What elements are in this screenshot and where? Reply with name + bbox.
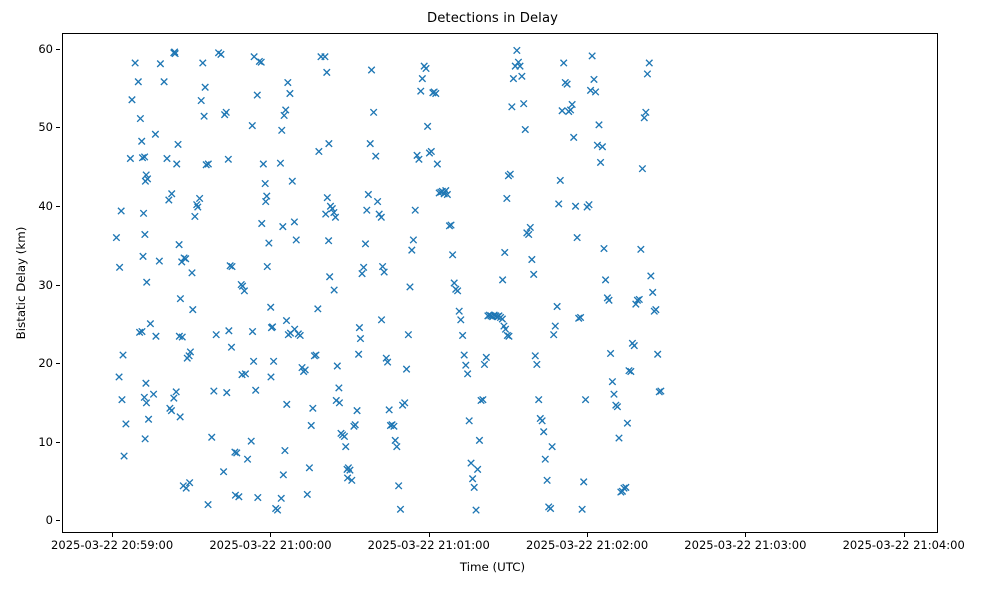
data-point (280, 472, 286, 478)
data-point (281, 112, 287, 118)
data-point (156, 258, 162, 264)
data-point (336, 400, 342, 406)
data-point (192, 213, 198, 219)
data-point (357, 335, 363, 341)
data-point (116, 264, 122, 270)
y-tick-mark (56, 127, 60, 128)
data-point (378, 214, 384, 220)
data-point (456, 308, 462, 314)
data-point (586, 201, 592, 207)
page-title: Detections in Delay (0, 11, 985, 26)
data-point (591, 76, 597, 82)
data-point (557, 177, 563, 183)
data-point (140, 253, 146, 259)
data-point (285, 79, 291, 85)
data-point (451, 280, 457, 286)
data-point (378, 317, 384, 323)
data-point (164, 155, 170, 161)
figure-canvas: Detections in Delay Bistatic Delay (km) … (0, 0, 985, 590)
data-point (403, 366, 409, 372)
data-point (401, 400, 407, 406)
x-tick-mark (270, 533, 271, 537)
data-point (449, 252, 455, 258)
data-point (580, 479, 586, 485)
data-point (166, 197, 172, 203)
data-point (175, 141, 181, 147)
x-tick-label: 2025-03-22 20:59:00 (51, 538, 173, 552)
data-point (356, 324, 362, 330)
data-point (507, 171, 513, 177)
data-point (334, 363, 340, 369)
data-point (409, 247, 415, 253)
data-point (224, 389, 230, 395)
data-point (152, 131, 158, 137)
data-point (200, 60, 206, 66)
data-point (129, 97, 135, 103)
data-point (325, 237, 331, 243)
data-point (324, 69, 330, 75)
data-point (639, 165, 645, 171)
data-point (374, 198, 380, 204)
data-point (250, 358, 256, 364)
data-point (602, 277, 608, 283)
data-point (549, 443, 555, 449)
data-point (599, 144, 605, 150)
data-point (560, 60, 566, 66)
data-point (579, 506, 585, 512)
data-point (359, 270, 365, 276)
data-point (308, 422, 314, 428)
data-point (173, 161, 179, 167)
data-point (569, 101, 575, 107)
data-point (525, 231, 531, 237)
scatter-layer (63, 34, 937, 532)
data-point (520, 100, 526, 106)
x-tick-label: 2025-03-22 21:00:00 (209, 538, 331, 552)
data-point (392, 437, 398, 443)
data-point (208, 434, 214, 440)
data-point (594, 142, 600, 148)
data-point (277, 160, 283, 166)
data-point (287, 90, 293, 96)
data-point (143, 279, 149, 285)
data-point (544, 477, 550, 483)
data-point (119, 396, 125, 402)
data-point (609, 378, 615, 384)
data-point (554, 303, 560, 309)
data-point (362, 241, 368, 247)
data-point (592, 89, 598, 95)
data-point (368, 67, 374, 73)
y-tick-mark (56, 520, 60, 521)
data-point (140, 210, 146, 216)
data-point (248, 438, 254, 444)
x-tick-mark (745, 533, 746, 537)
data-point (386, 407, 392, 413)
data-point (280, 223, 286, 229)
data-point (322, 211, 328, 217)
data-point (326, 273, 332, 279)
data-point (142, 436, 148, 442)
data-point (499, 277, 505, 283)
data-point (638, 246, 644, 252)
data-point (198, 97, 204, 103)
data-point (428, 148, 434, 154)
data-point (364, 207, 370, 213)
data-point (654, 351, 660, 357)
y-axis-tick-marks (0, 33, 62, 533)
data-point (147, 320, 153, 326)
data-point (282, 107, 288, 113)
data-point (289, 178, 295, 184)
data-point (564, 81, 570, 87)
data-point (137, 115, 143, 121)
data-point (260, 161, 266, 167)
data-point (483, 354, 489, 360)
data-point (264, 263, 270, 269)
data-point (157, 61, 163, 67)
x-tick-label: 2025-03-22 21:04:00 (843, 538, 965, 552)
data-point (252, 387, 258, 393)
x-tick-mark (587, 533, 588, 537)
data-point (459, 332, 465, 338)
data-point (552, 323, 558, 329)
data-point (336, 385, 342, 391)
data-point (331, 287, 337, 293)
data-point (211, 388, 217, 394)
data-point (550, 331, 556, 337)
x-tick-label: 2025-03-22 21:03:00 (684, 538, 806, 552)
data-point (570, 134, 576, 140)
data-point (322, 53, 328, 59)
data-point (173, 389, 179, 395)
data-point (171, 395, 177, 401)
data-point (324, 194, 330, 200)
data-point (641, 115, 647, 121)
data-point (572, 203, 578, 209)
data-point (201, 113, 207, 119)
data-point (514, 47, 520, 53)
data-point (648, 273, 654, 279)
data-point (161, 79, 167, 85)
y-tick-mark (56, 442, 60, 443)
plot-area (62, 33, 938, 533)
data-point (504, 195, 510, 201)
data-point (463, 362, 469, 368)
data-point (481, 361, 487, 367)
data-point (176, 241, 182, 247)
data-point (141, 394, 147, 400)
data-point (394, 443, 400, 449)
x-axis-tick-labels: 2025-03-22 20:59:002025-03-22 21:00:0020… (0, 538, 985, 556)
data-point (254, 92, 260, 98)
data-point (611, 391, 617, 397)
y-tick-mark (56, 49, 60, 50)
data-point (189, 270, 195, 276)
data-point (316, 148, 322, 154)
data-point (113, 234, 119, 240)
data-point (567, 107, 573, 113)
data-point (539, 418, 545, 424)
data-point (205, 501, 211, 507)
data-point (266, 240, 272, 246)
data-point (218, 51, 224, 57)
data-point (412, 207, 418, 213)
data-point-group (113, 47, 664, 513)
data-point (270, 358, 276, 364)
data-point (646, 60, 652, 66)
data-point (202, 84, 208, 90)
data-point (228, 344, 234, 350)
data-point (547, 505, 553, 511)
data-point (606, 297, 612, 303)
data-point (474, 466, 480, 472)
data-point (529, 256, 535, 262)
data-point (597, 159, 603, 165)
x-axis-label: Time (UTC) (0, 560, 985, 574)
data-point (519, 73, 525, 79)
data-point (360, 264, 366, 270)
data-point (283, 317, 289, 323)
data-point (264, 193, 270, 199)
data-point (132, 60, 138, 66)
x-tick-label: 2025-03-22 21:01:00 (368, 538, 490, 552)
data-point (469, 476, 475, 482)
data-point (150, 391, 156, 397)
data-point (466, 418, 472, 424)
data-point (278, 495, 284, 501)
data-point (255, 494, 261, 500)
data-point (167, 405, 173, 411)
data-point (120, 352, 126, 358)
data-point (177, 414, 183, 420)
data-point (153, 333, 159, 339)
data-point (589, 53, 595, 59)
y-tick-mark (56, 285, 60, 286)
data-point (555, 201, 561, 207)
data-point (221, 111, 227, 117)
x-tick-mark (904, 533, 905, 537)
data-point (291, 326, 297, 332)
data-point (574, 234, 580, 240)
x-tick-label: 2025-03-22 21:02:00 (526, 538, 648, 552)
data-point (190, 306, 196, 312)
x-tick-mark (429, 533, 430, 537)
data-point (473, 507, 479, 513)
data-point (193, 201, 199, 207)
data-point (424, 123, 430, 129)
data-point (395, 483, 401, 489)
y-tick-mark (56, 363, 60, 364)
data-point (284, 401, 290, 407)
data-point (464, 371, 470, 377)
data-point (262, 198, 268, 204)
data-point (434, 161, 440, 167)
data-point (643, 109, 649, 115)
data-point (310, 405, 316, 411)
data-point (282, 447, 288, 453)
data-point (259, 220, 265, 226)
data-point (468, 460, 474, 466)
data-point (423, 65, 429, 71)
data-point (373, 153, 379, 159)
data-point (225, 156, 231, 162)
data-point (476, 437, 482, 443)
data-point (142, 231, 148, 237)
data-point (535, 396, 541, 402)
data-point (631, 342, 637, 348)
data-point (274, 507, 280, 513)
data-point (419, 75, 425, 81)
data-point (143, 380, 149, 386)
data-point (624, 420, 630, 426)
data-point (530, 271, 536, 277)
data-point (220, 468, 226, 474)
data-point (532, 353, 538, 359)
data-point (121, 453, 127, 459)
data-point (596, 122, 602, 128)
data-point (354, 407, 360, 413)
data-point (304, 491, 310, 497)
data-point (168, 190, 174, 196)
data-point (118, 208, 124, 214)
data-point (582, 396, 588, 402)
data-point (587, 87, 593, 93)
data-point (293, 237, 299, 243)
data-point (213, 331, 219, 337)
data-point (616, 435, 622, 441)
data-point (127, 155, 133, 161)
data-point (226, 328, 232, 334)
data-point (379, 263, 385, 269)
data-point (341, 433, 347, 439)
data-point (268, 374, 274, 380)
data-point (458, 317, 464, 323)
data-point (138, 138, 144, 144)
data-point (381, 269, 387, 275)
y-tick-mark (56, 206, 60, 207)
data-point (177, 295, 183, 301)
data-point (607, 350, 613, 356)
data-point (527, 224, 533, 230)
data-point (249, 122, 255, 128)
data-point (145, 416, 151, 422)
data-point (397, 506, 403, 512)
data-point (509, 104, 515, 110)
data-point (355, 351, 361, 357)
data-point (244, 456, 250, 462)
data-point (559, 107, 565, 113)
data-point (601, 245, 607, 251)
data-point (418, 88, 424, 94)
data-point (306, 465, 312, 471)
data-point (249, 328, 255, 334)
data-point (461, 352, 467, 358)
data-point (279, 127, 285, 133)
data-point (540, 429, 546, 435)
data-point (454, 288, 460, 294)
data-point (367, 140, 373, 146)
data-point (405, 331, 411, 337)
data-point (123, 421, 129, 427)
data-point (501, 249, 507, 255)
data-point (135, 79, 141, 85)
x-tick-mark (112, 533, 113, 537)
data-point (365, 191, 371, 197)
data-point (649, 289, 655, 295)
data-point (342, 443, 348, 449)
data-point (644, 71, 650, 77)
data-point (471, 484, 477, 490)
data-point (195, 204, 201, 210)
data-point (143, 400, 149, 406)
data-point (510, 75, 516, 81)
data-point (370, 109, 376, 115)
data-point (183, 485, 189, 491)
data-point (407, 284, 413, 290)
data-point (522, 126, 528, 132)
data-point (326, 140, 332, 146)
data-point (542, 456, 548, 462)
data-point (262, 180, 268, 186)
data-point (315, 306, 321, 312)
data-point (297, 332, 303, 338)
data-point (534, 361, 540, 367)
data-point (267, 304, 273, 310)
data-point (196, 195, 202, 201)
data-point (410, 237, 416, 243)
data-point (116, 374, 122, 380)
data-point (186, 479, 192, 485)
data-point (291, 219, 297, 225)
